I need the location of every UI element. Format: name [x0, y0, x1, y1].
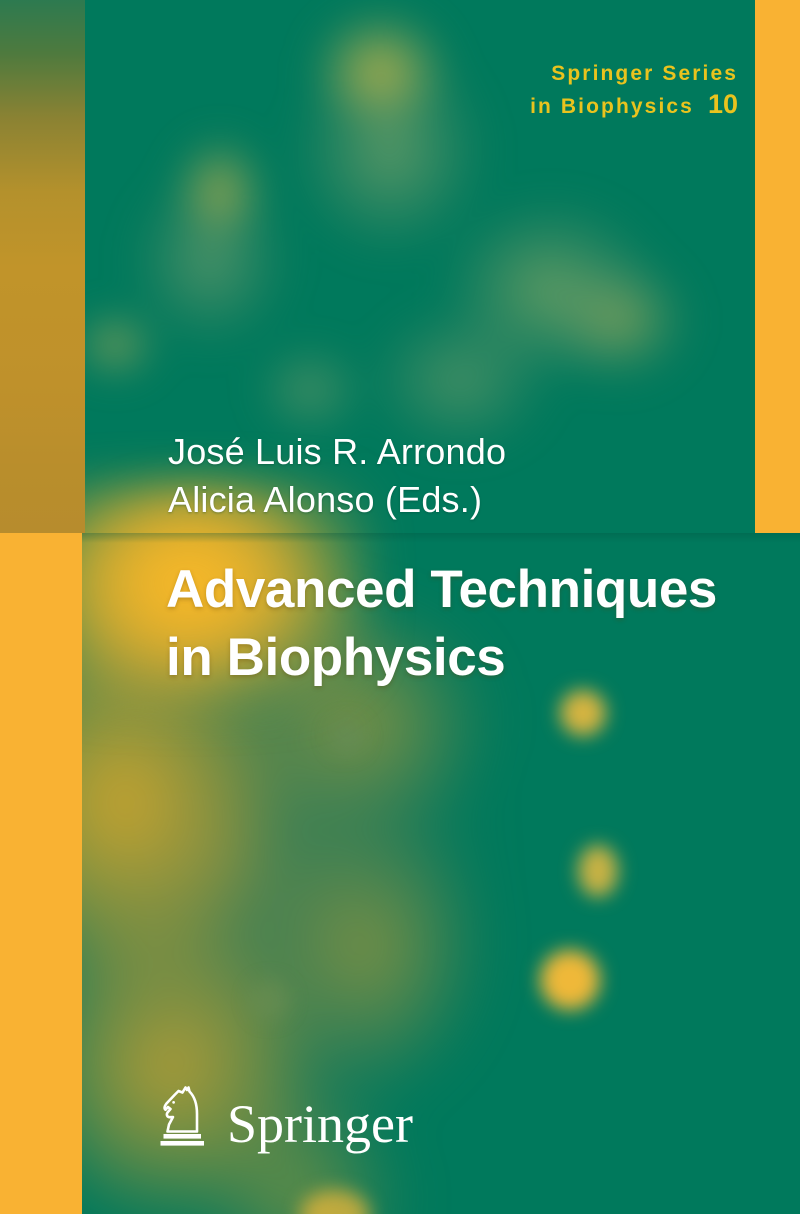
- series-line-2-wrap: in Biophysics10: [530, 89, 738, 122]
- left-color-band-top: [0, 0, 85, 533]
- left-color-band-bottom: [0, 533, 82, 1214]
- publisher-name: Springer: [227, 1097, 413, 1151]
- artwork-speck: [578, 845, 618, 897]
- artwork-speck: [560, 690, 606, 736]
- artwork-speck: [540, 950, 600, 1010]
- artwork-speck: [250, 980, 290, 1020]
- series-block: Springer Series in Biophysics10: [530, 58, 738, 122]
- title-line-2: in Biophysics: [166, 624, 776, 692]
- title-line-1: Advanced Techniques: [166, 556, 776, 624]
- series-number: 10: [708, 89, 738, 119]
- lower-panel-seam: [82, 533, 800, 543]
- series-line-1: Springer Series: [551, 62, 738, 85]
- publisher-logo: Springer: [155, 1083, 413, 1147]
- series-line-2: in Biophysics: [530, 95, 694, 118]
- book-title: Advanced Techniques in Biophysics: [166, 556, 776, 692]
- right-color-band: [755, 0, 800, 533]
- book-cover: Springer Series in Biophysics10 José Lui…: [0, 0, 800, 1214]
- author-line-1: José Luis R. Arrondo: [168, 428, 506, 476]
- authors-block: José Luis R. Arrondo Alicia Alonso (Eds.…: [168, 428, 506, 524]
- springer-knight-icon: [155, 1083, 211, 1147]
- artwork-speck: [330, 720, 364, 754]
- author-line-2: Alicia Alonso (Eds.): [168, 476, 506, 524]
